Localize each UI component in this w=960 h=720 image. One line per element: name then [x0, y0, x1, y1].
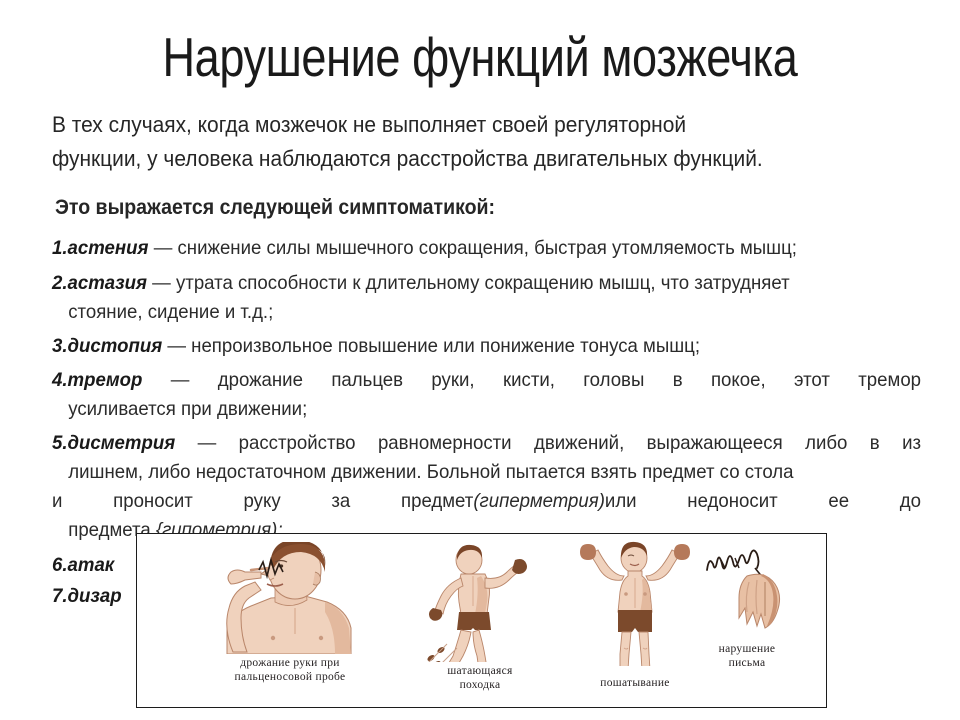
symptom-text-cont: лишнем, либо недостаточном движении. Бол… [52, 458, 896, 487]
caption-line: нарушение [657, 642, 827, 656]
symptom-text: — непроизвольное повышение или понижение… [162, 335, 700, 357]
intro-line-1: В тех случаях, когда мозжечок не выполня… [52, 108, 870, 142]
symptom-term: 6.атак [52, 554, 114, 576]
caption-line: письма [657, 656, 827, 670]
symptom-text: — дрожание пальцев руки, кисти, головы в… [142, 369, 921, 391]
symptom-term: 4.тремор [52, 369, 142, 391]
symptom-text-cont: стояние, сидение и т.д.; [52, 298, 896, 327]
caption-line: пошатывание [535, 676, 735, 690]
finger-to-nose-icon [165, 542, 415, 654]
slide-root: Нарушение функций мозжечка В тех случаях… [0, 0, 960, 720]
symptom-text: — утрата способности к длительному сокра… [147, 272, 790, 294]
symptom-term: 2.астазия [52, 272, 147, 294]
symptom-text-cont: усиливается при движении; [52, 395, 896, 424]
symptom-text-cont: и проносит руку за предмет(гиперметрия)и… [52, 487, 921, 516]
list-item: 3.дистопия — непроизвольное повышение ил… [52, 332, 896, 361]
caption-line: пальценосовой пробе [165, 670, 415, 684]
caption-line: дрожание руки при [165, 656, 415, 670]
figure-caption: пошатывание [535, 676, 735, 690]
symptom-term: 7.дизар [52, 585, 122, 607]
list-item: 1.астения — снижение силы мышечного сокр… [52, 234, 896, 263]
page-title: Нарушение функций мозжечка [86, 26, 873, 88]
figure-caption: нарушение письма [657, 642, 827, 670]
subheading: Это выражается следующей симптоматикой: [55, 196, 495, 220]
symptom-term: 1.астения [52, 237, 149, 259]
list-item: 4.тремор — дрожание пальцев руки, кисти,… [52, 366, 896, 424]
figure-writing-impairment: нарушение письма [657, 540, 827, 670]
symptom-term: 5.дисметрия [52, 432, 175, 454]
writing-hand-icon [657, 540, 827, 636]
figure-finger-to-nose: дрожание руки при пальценосовой пробе [165, 542, 415, 684]
illustration-panel: дрожание руки при пальценосовой пробе [136, 533, 827, 708]
list-item: 2.астазия — утрата способности к длитель… [52, 269, 896, 327]
symptom-text: — снижение силы мышечного сокращения, бы… [149, 237, 797, 259]
intro-paragraph: В тех случаях, когда мозжечок не выполня… [52, 108, 870, 176]
figure-caption: дрожание руки при пальценосовой пробе [165, 656, 415, 684]
intro-line-2: функции, у человека наблюдаются расстрой… [52, 142, 870, 176]
list-item: 5.дисметрия — расстройство равномерности… [52, 429, 896, 545]
symptom-term: 3.дистопия [52, 335, 162, 357]
hypermetria-term: (гиперметрия) [473, 490, 605, 512]
symptom-text: — расстройство равномерности движений, в… [175, 432, 921, 454]
